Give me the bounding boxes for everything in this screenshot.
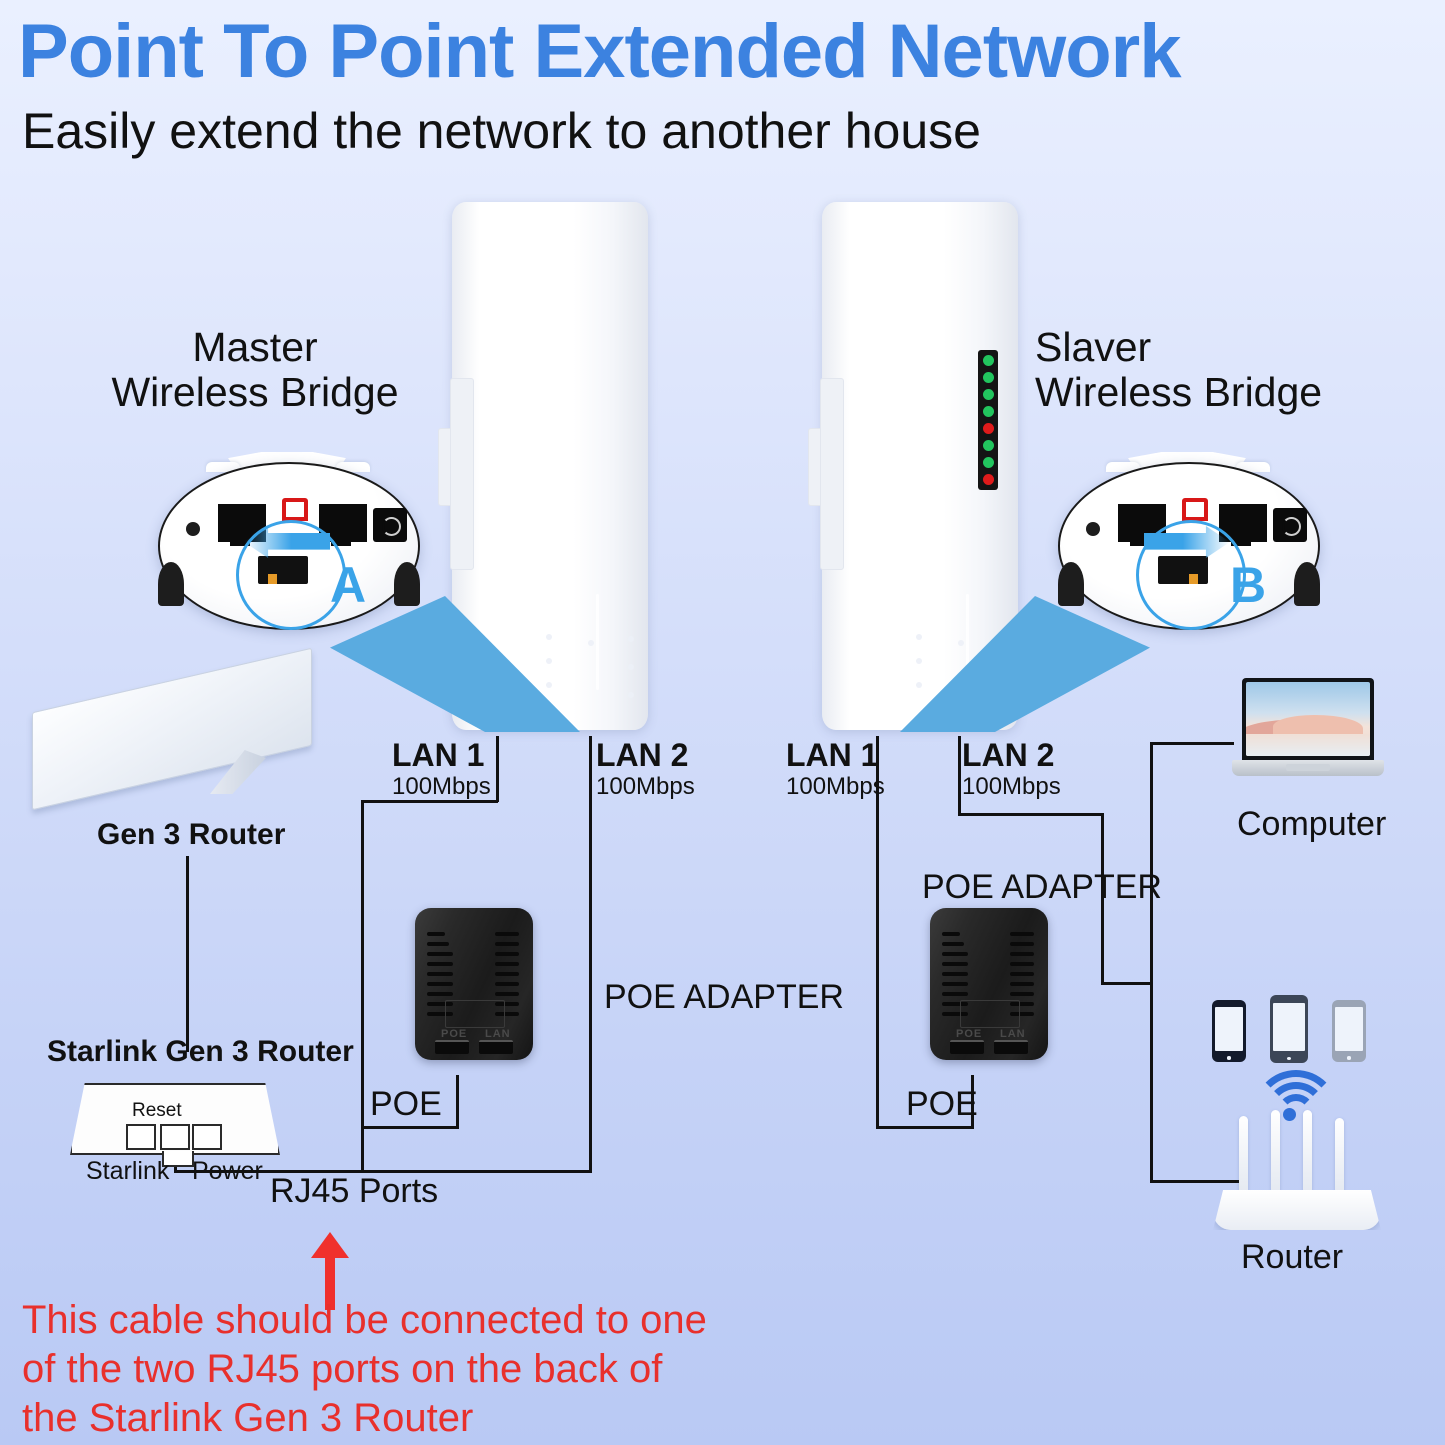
connector-master-lan1-down — [361, 800, 364, 1170]
master-bridge-caption-line2: Wireless Bridge — [55, 370, 455, 415]
connector-slaver-lan1-down — [876, 800, 879, 1128]
warning-line-3: the Starlink Gen 3 Router — [22, 1394, 707, 1443]
slaver-port-callout: B — [1058, 462, 1320, 630]
warning-line-1: This cable should be connected to one — [22, 1296, 707, 1345]
slaver-lan1-speed: 100Mbps — [786, 774, 885, 801]
poe-adapter-left-title: POE ADAPTER — [604, 978, 844, 1016]
phone-device-3 — [1332, 1000, 1366, 1062]
master-bridge-caption-line1: Master — [55, 325, 455, 370]
slaver-bridge-caption: Slaver Wireless Bridge — [1035, 325, 1435, 415]
phone-device-2 — [1270, 995, 1308, 1063]
master-power-jack — [373, 508, 407, 542]
starlink-port-1 — [126, 1124, 156, 1150]
led-indicator-5 — [983, 423, 994, 434]
master-lan2-speed: 100Mbps — [596, 774, 695, 801]
poe-right-brick-port-b-label: LAN — [1000, 1028, 1026, 1040]
led-indicator-6 — [983, 440, 994, 451]
slaver-status-led — [1182, 498, 1208, 521]
connector-master-lan1-horizontal — [361, 800, 498, 803]
led-indicator-2 — [983, 372, 994, 383]
connector-master-lan2-vertical — [589, 736, 592, 802]
slaver-lan2-label: LAN 2 100Mbps — [962, 738, 1061, 801]
led-indicator-7 — [983, 457, 994, 468]
connector-poe-right-box-bottom — [876, 1126, 974, 1129]
connector-right-trunk — [1150, 742, 1153, 1182]
poe-adapter-right: POE LAN — [930, 908, 1048, 1060]
warning-arrow-head-icon — [311, 1232, 349, 1258]
wifi-router — [1213, 1108, 1381, 1230]
master-callout-foot-left — [158, 562, 184, 606]
connector-poe-left-box-right — [456, 1075, 459, 1129]
master-lan1-speed: 100Mbps — [392, 774, 491, 801]
master-lan2-label: LAN 2 100Mbps — [596, 738, 695, 801]
slaver-lan1-label: LAN 1 100Mbps — [786, 738, 885, 801]
slaver-callout-letter: B — [1230, 560, 1266, 610]
led-indicator-4 — [983, 406, 994, 417]
connector-slaver-lan1-vertical — [876, 736, 879, 802]
starlink-dish-label: Gen 3 Router — [97, 818, 285, 852]
poe-adapter-right-title: POE ADAPTER — [922, 868, 1162, 906]
phone-device-1 — [1212, 1000, 1246, 1062]
master-callout-foot-right — [394, 562, 420, 606]
connector-trunk-branch — [1101, 982, 1153, 985]
page-title: Point To Point Extended Network — [18, 14, 1181, 90]
slaver-lan2-speed: 100Mbps — [962, 774, 1061, 801]
wifi-router-label: Router — [1241, 1238, 1343, 1276]
connector-to-computer — [1150, 742, 1234, 745]
master-lan2-name: LAN 2 — [596, 738, 695, 774]
starlink-port-right-label: Power — [192, 1157, 263, 1185]
starlink-port-3 — [192, 1124, 222, 1150]
master-lan1-label: LAN 1 100Mbps — [392, 738, 491, 801]
connector-poe-left-box-bottom — [361, 1126, 459, 1129]
master-reset-pinhole — [186, 522, 200, 536]
slaver-reset-pinhole — [1086, 522, 1100, 536]
slaver-power-jack — [1273, 508, 1307, 542]
led-indicator-3 — [983, 389, 994, 400]
computer-label: Computer — [1237, 805, 1386, 843]
master-port-callout: A — [158, 462, 420, 630]
poe-adapter-left: POE LAN — [415, 908, 533, 1060]
computer-laptop — [1232, 678, 1384, 788]
slaver-callout-foot-left — [1058, 562, 1084, 606]
starlink-router-label: Starlink Gen 3 Router — [47, 1035, 354, 1069]
connector-dish-to-router — [186, 856, 189, 1052]
starlink-port-2 — [160, 1124, 190, 1150]
starlink-dish — [32, 672, 322, 802]
poe-brick-port-b-label: LAN — [485, 1028, 511, 1040]
starlink-reset-label: Reset — [132, 1100, 182, 1121]
poe-brick-port-a-label: POE — [441, 1028, 467, 1040]
starlink-port-left-label: Starlink — [86, 1157, 169, 1185]
warning-text: This cable should be connected to one of… — [22, 1296, 707, 1442]
led-indicator-1 — [983, 355, 994, 366]
poe-right-brick-port-a-label: POE — [956, 1028, 982, 1040]
page-subtitle: Easily extend the network to another hou… — [22, 106, 981, 156]
connector-slaver-lan2-vertical — [958, 736, 961, 816]
slaver-lan1-name: LAN 1 — [786, 738, 885, 774]
slaver-bridge-caption-line2: Wireless Bridge — [1035, 370, 1435, 415]
led-indicator-strip — [978, 350, 998, 490]
master-status-led — [282, 498, 308, 521]
master-lan1-name: LAN 1 — [392, 738, 491, 774]
warning-line-2: of the two RJ45 ports on the back of — [22, 1345, 707, 1394]
led-indicator-8 — [983, 474, 994, 485]
connector-master-lan1-vertical — [496, 736, 499, 802]
starlink-gen3-router: Reset — [70, 1083, 280, 1155]
slaver-bridge-caption-line1: Slaver — [1035, 325, 1435, 370]
connector-slaver-lan2-horizontal — [958, 813, 1104, 816]
slaver-lan2-name: LAN 2 — [962, 738, 1061, 774]
rj45-ports-label: RJ45 Ports — [270, 1172, 438, 1210]
connector-master-lan2-down — [589, 800, 592, 1172]
master-callout-letter: A — [330, 560, 366, 610]
poe-right-port-label: POE — [906, 1085, 978, 1123]
master-bridge-caption: Master Wireless Bridge — [55, 325, 455, 415]
slaver-callout-foot-right — [1294, 562, 1320, 606]
poe-left-port-label: POE — [370, 1085, 442, 1123]
